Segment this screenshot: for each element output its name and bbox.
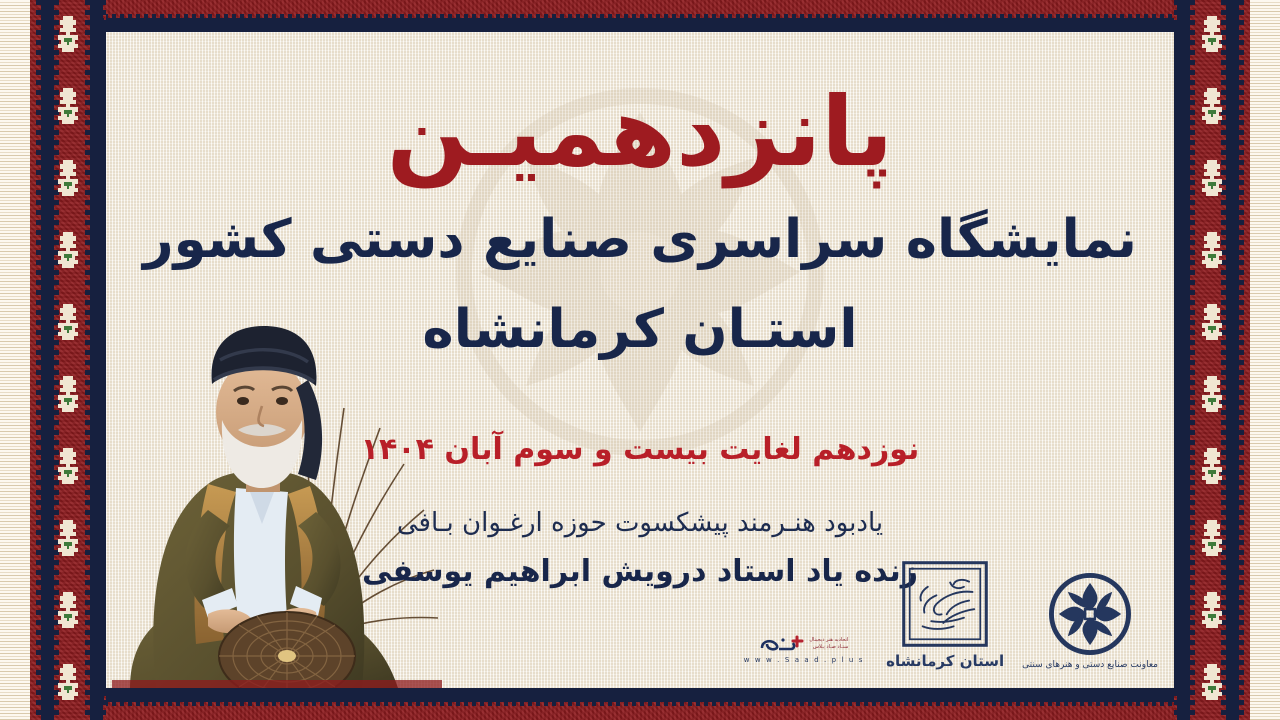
handicrafts-logo: معاونت صنایع دستی و هنرهای سنتی [1022, 573, 1158, 670]
kilim-bird-motif [1197, 590, 1227, 634]
kilim-bird-motif [53, 446, 83, 490]
ministry-logo: استان کرمانشاه [886, 561, 1004, 670]
kilim-bird-motif [1197, 302, 1227, 346]
kilim-bird-motif [53, 86, 83, 130]
event-date: نوزدهم لغایت بیست و سوم آبان ۱۴۰۴ [106, 432, 1174, 467]
saad-tagline-line-1: اتحادیه هنر دیجیتال [809, 637, 848, 644]
kilim-bird-motif [53, 14, 83, 58]
poster-panel: پانزدهمیـن نمایشگاه سراسری صنایع دستی کش… [106, 32, 1174, 688]
motif-column-left [51, 0, 85, 720]
ministry-logo-caption: استان کرمانشاه [886, 652, 1004, 670]
panel-teeth-right [1182, 24, 1188, 696]
kilim-bird-motif [53, 230, 83, 274]
ministry-seal-icon [902, 561, 988, 647]
panel-edge-bottom [98, 688, 1182, 696]
panel-edge-right [1174, 24, 1182, 696]
logo-group: معاونت صنایع دستی و هنرهای سنتی [886, 561, 1158, 670]
kilim-bird-motif [1197, 446, 1227, 490]
kilim-bird-motif [1197, 158, 1227, 202]
kilim-bird-motif [53, 518, 83, 562]
kilim-bird-motif [53, 662, 83, 706]
saad-tagline: اتحادیه هنر دیجیتال ستـاد صـاد پـلاس [809, 637, 848, 651]
page-title: پانزدهمیـن [106, 84, 1174, 180]
memorial-line-1: یادبود هنـرمند پیشکسوت حوزه ارغـوان بـاف… [106, 508, 1174, 538]
exhibition-poster: پانزدهمیـن نمایشگاه سراسری صنایع دستی کش… [0, 0, 1280, 720]
kilim-bird-motif [53, 374, 83, 418]
saad-url: w w w . S a a d . p l u s [744, 656, 864, 664]
kilim-bird-motif [53, 158, 83, 202]
subtitle-line-1: نمایشگاه سراسری صنایع دستی کشور [106, 210, 1174, 271]
rosette-medallion-icon [1049, 573, 1131, 655]
kilim-bird-motif [1197, 14, 1227, 58]
saad-plus-logo: اتحادیه هنر دیجیتال ستـاد صـاد پـلاس w w… [744, 634, 864, 664]
saad-logo-row: اتحادیه هنر دیجیتال ستـاد صـاد پـلاس [759, 634, 848, 654]
subtitle-line-2: استـان کرمانشاه [106, 300, 1174, 361]
panel-edge-top [98, 24, 1182, 32]
saad-tagline-line-2: ستـاد صـاد پـلاس [809, 644, 848, 651]
kilim-bird-motif [53, 590, 83, 634]
kilim-bird-motif [1197, 518, 1227, 562]
kilim-bird-motif [1197, 230, 1227, 274]
handicrafts-logo-caption: معاونت صنایع دستی و هنرهای سنتی [1022, 660, 1158, 670]
kilim-bird-motif [1197, 374, 1227, 418]
kilim-bird-motif [1197, 86, 1227, 130]
fringe-right [1250, 0, 1280, 720]
panel-edge-left [98, 24, 106, 696]
kilim-bird-motif [1197, 662, 1227, 706]
kilim-bird-motif [53, 302, 83, 346]
fringe-left [0, 0, 30, 720]
motif-column-right [1195, 0, 1229, 720]
panel-teeth-bottom [98, 696, 1182, 702]
saad-plus-icon [759, 634, 805, 654]
